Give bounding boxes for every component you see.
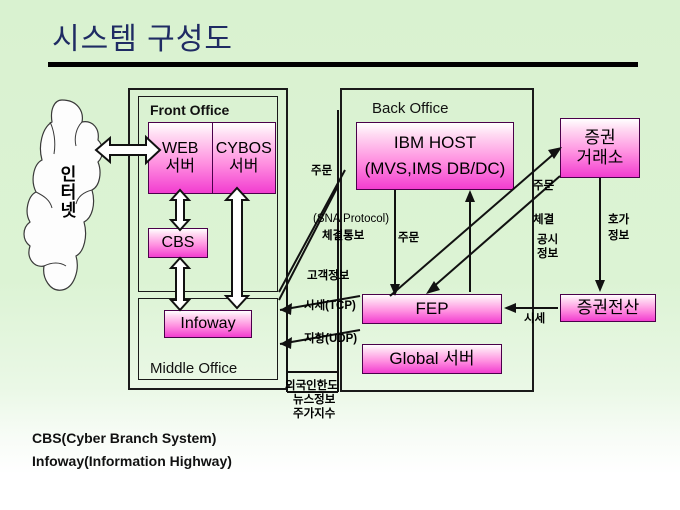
cybos-server-line1: CYBOS (216, 140, 272, 158)
exchange-settlement-arrow (595, 178, 605, 292)
cybos-server-line2: 서버 (229, 158, 258, 176)
infoway-box: Infoway (164, 310, 252, 338)
label-customer-info: 고객정보 (307, 270, 349, 283)
label-news-info: 뉴스정보 (293, 394, 335, 407)
web-server-cell: WEB 서버 (149, 123, 212, 193)
label-order-top: 주문 (311, 165, 332, 178)
exchange-line1: 증권 (584, 128, 615, 148)
web-server-line1: WEB (162, 140, 198, 158)
web-cybos-server-box: WEB 서버 CYBOS 서버 (148, 122, 276, 194)
exchange-box: 증권 거래소 (560, 118, 640, 178)
label-bid-info-line2: 정보 (608, 230, 629, 243)
settlement-box: 증권전산 (560, 294, 656, 322)
ibm-host-line1: IBM HOST (394, 133, 476, 153)
infoway-label: Infoway (180, 315, 235, 333)
label-settle: 체결 (533, 214, 554, 227)
legend-line-infoway: Infoway(Information Highway) (32, 453, 232, 469)
middle-office-label: Middle Office (150, 360, 237, 377)
label-quote-tcp: 시세(TCP) (304, 300, 356, 313)
cbs-label: CBS (162, 234, 195, 252)
global-server-box: Global 서버 (362, 344, 502, 374)
back-office-label: Back Office (372, 100, 448, 117)
label-bid-info-line1: 호가 (608, 214, 629, 227)
label-sna-protocol: (SNA Protocol) (313, 213, 389, 226)
ibm-host-line2: (MVS,IMS DB/DC) (365, 159, 506, 179)
global-server-label: Global 서버 (389, 349, 474, 369)
front-office-label: Front Office (150, 102, 229, 118)
settlement-label: 증권전산 (577, 298, 640, 318)
legend-line-cbs: CBS(Cyber Branch System) (32, 430, 216, 446)
web-server-line2: 서버 (166, 158, 195, 176)
title-underline (48, 62, 638, 67)
label-market-udp: 지항(UDP) (304, 333, 357, 346)
page-title: 시스템 구성도 (52, 14, 233, 58)
cbs-box: CBS (148, 228, 208, 258)
label-disclosure-line1: 공시 (537, 234, 558, 247)
label-disclosure-line2: 정보 (537, 248, 558, 261)
label-stock-index: 주가지수 (293, 408, 335, 421)
label-order-host: 주문 (398, 232, 419, 245)
label-order-exchange: 주문 (533, 180, 554, 193)
label-foreign-limit: 외국인한도 (285, 380, 338, 393)
label-quote: 시세 (524, 313, 545, 326)
ibm-host-box: IBM HOST (MVS,IMS DB/DC) (356, 122, 514, 190)
internet-cloud-label: 인터넷 (54, 165, 79, 219)
label-trade-report: 체결통보 (322, 230, 364, 243)
exchange-line2: 거래소 (577, 148, 624, 168)
slide-canvas: 시스템 구성도 Front Office WEB 서버 CYBOS 서버 CBS… (0, 0, 680, 510)
cybos-server-cell: CYBOS 서버 (213, 123, 276, 193)
fep-label: FEP (415, 299, 448, 319)
fep-box: FEP (362, 294, 502, 324)
